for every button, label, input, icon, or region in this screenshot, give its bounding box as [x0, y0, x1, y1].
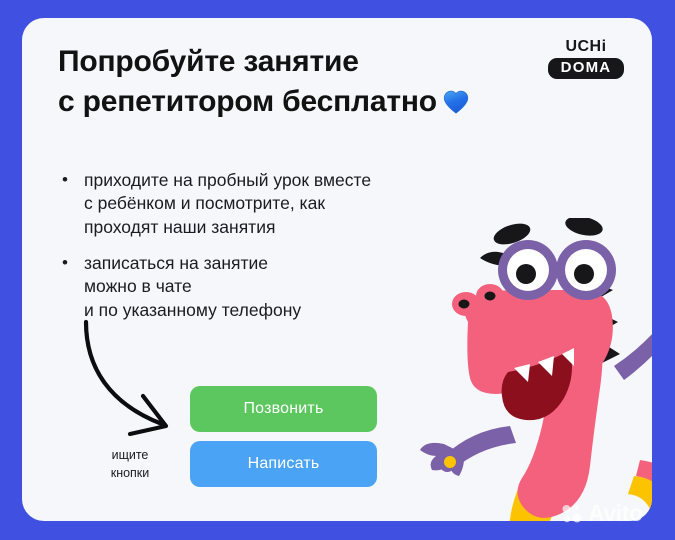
headline-line-1: Попробуйте занятие	[58, 42, 578, 82]
bullet-line: можно в чате	[84, 275, 482, 298]
list-item: • записаться на занятие можно в чате и п…	[62, 252, 482, 322]
blue-heart-icon	[443, 90, 469, 114]
logo-text-uchi: UCHi	[548, 38, 624, 56]
hint-line-1: ищите	[82, 446, 178, 464]
list-item: • приходите на пробный урок вместе с реб…	[62, 169, 482, 239]
bullet-line: приходите на пробный урок вместе	[84, 169, 482, 192]
call-button[interactable]: Позвонить	[190, 386, 377, 432]
write-button[interactable]: Написать	[190, 441, 377, 487]
logo-text-doma: DOMA	[548, 58, 624, 79]
avito-logo-icon	[562, 503, 583, 524]
curved-arrow-icon	[80, 316, 195, 441]
page-title: Попробуйте занятие с репетитором бесплат…	[58, 42, 578, 122]
hint-line-2: кнопки	[82, 464, 178, 482]
bullet-line: проходят наши занятия	[84, 216, 482, 239]
bullet-marker: •	[62, 252, 76, 275]
promo-card: Попробуйте занятие с репетитором бесплат…	[22, 18, 652, 521]
brand-logo: UCHi DOMA	[548, 38, 624, 79]
hint-text: ищите кнопки	[82, 446, 178, 482]
headline-line-2: с репетитором бесплатно	[58, 85, 437, 118]
bullet-text: записаться на занятие можно в чате и по …	[84, 252, 482, 322]
bullet-text: приходите на пробный урок вместе с ребён…	[84, 169, 482, 239]
bullet-line: с ребёнком и посмотрите, как	[84, 192, 482, 215]
headline-line-2-wrap: с репетитором бесплатно	[58, 82, 578, 122]
avito-watermark: Avito	[562, 503, 643, 524]
poster-canvas: Попробуйте занятие с репетитором бесплат…	[0, 0, 675, 540]
bullet-line: записаться на занятие	[84, 252, 482, 275]
avito-wordmark: Avito	[588, 503, 643, 524]
bullet-marker: •	[62, 169, 76, 192]
